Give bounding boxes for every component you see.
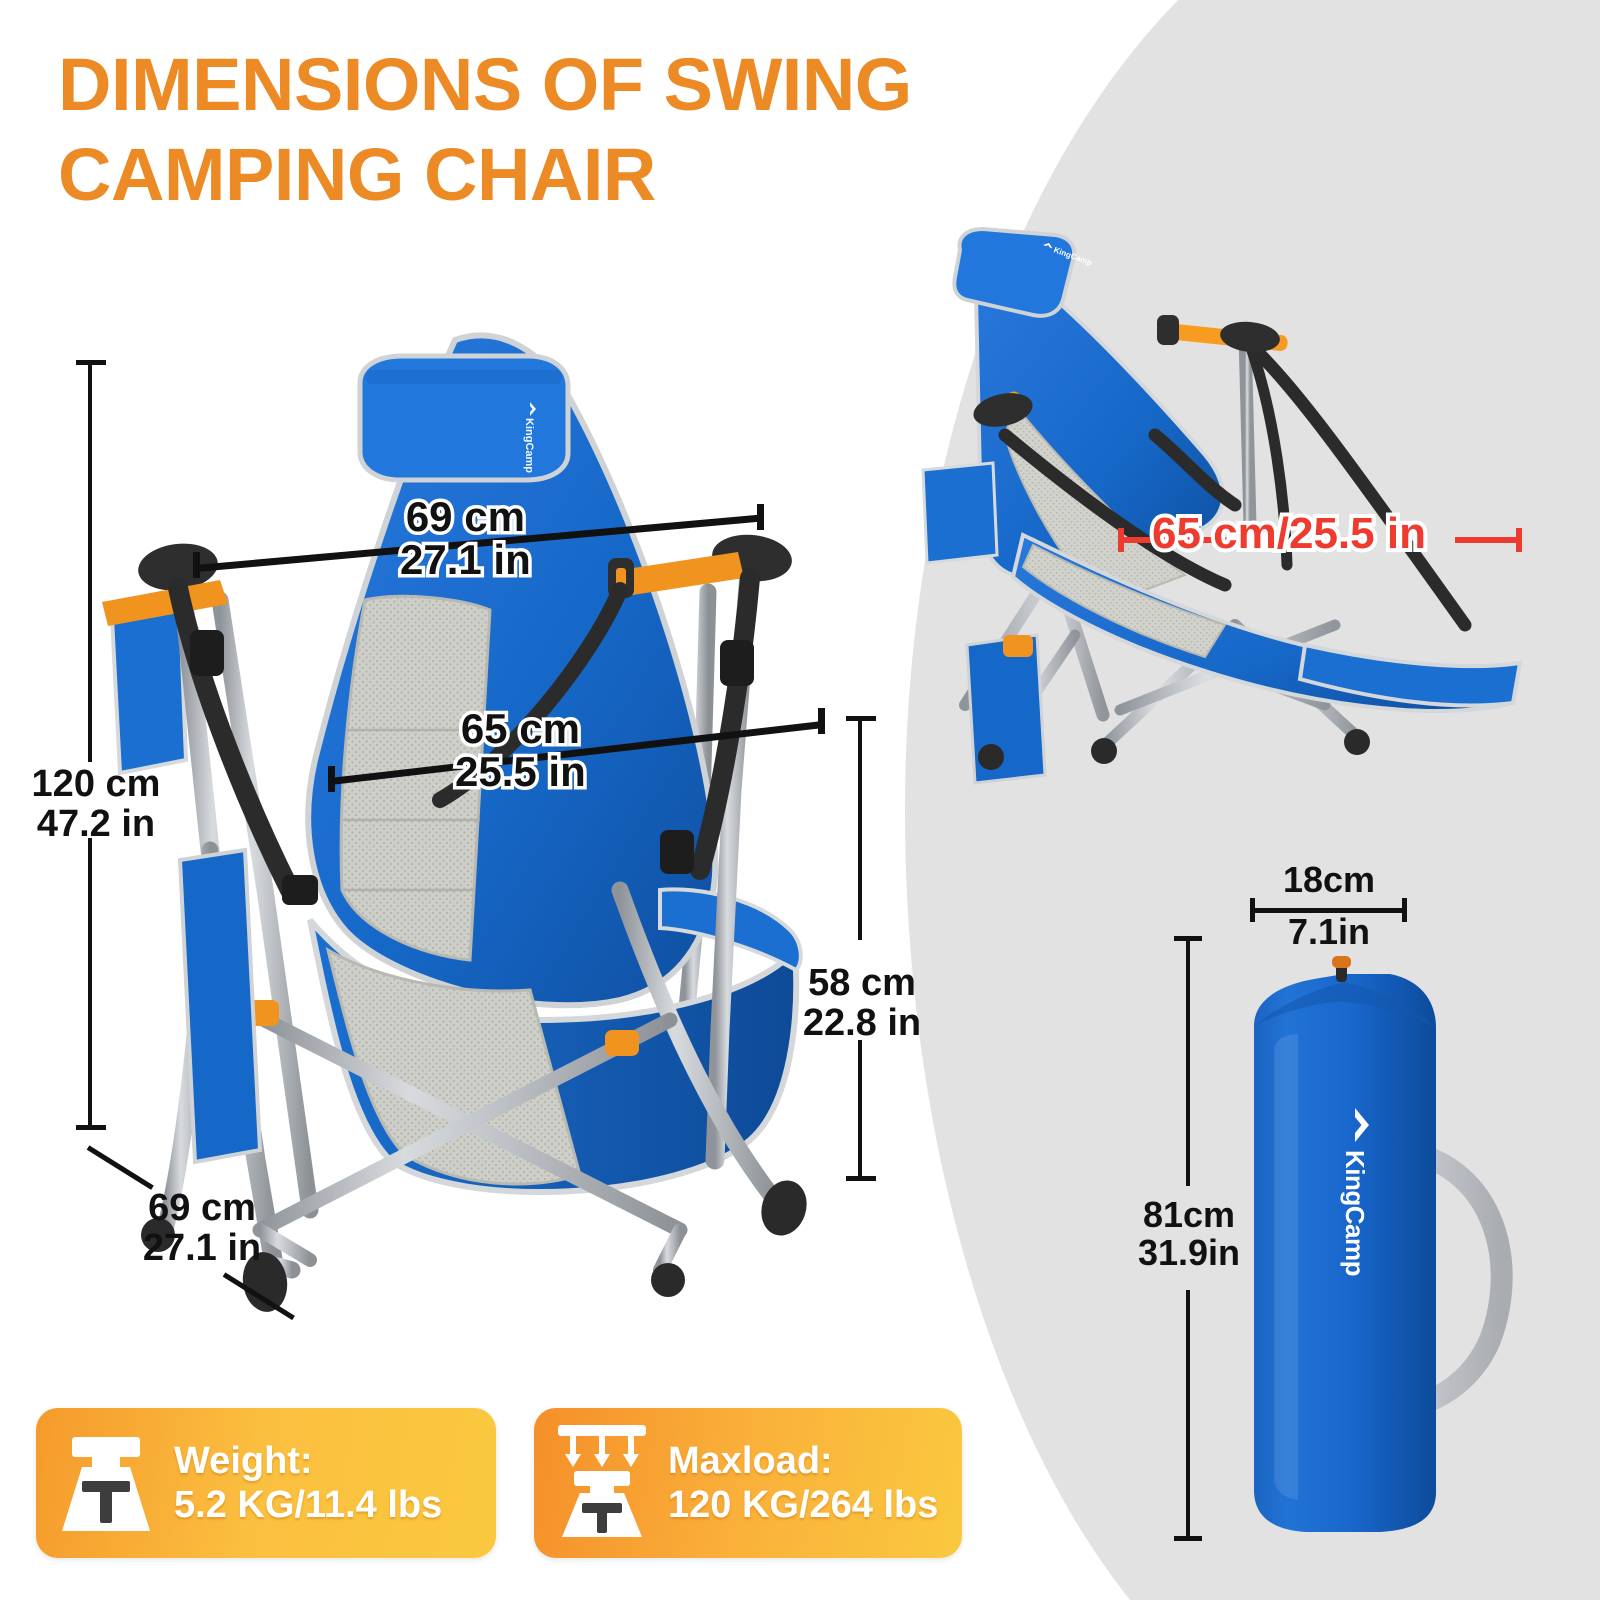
weight-scale-icon [54,1425,158,1542]
bag-height-label: 81cm 31.9in [1116,1196,1262,1272]
reclined-width-cap-right [1516,528,1522,552]
weight-badge-value: 5.2 KG/11.4 lbs [174,1484,442,1526]
seat-width-label: 65 cm 25.5 in [455,708,586,794]
reclined-side-pocket [923,463,997,563]
maxload-badge-text: Maxload: 120 KG/264 lbs [668,1439,938,1527]
infographic-page: DIMENSIONS OF SWING CAMPING CHAIR [0,0,1600,1600]
reclined-chair-illustration: KingCamp [905,205,1545,785]
side-pocket-left [112,606,186,773]
total-height-label: 120 cm 47.2 in [26,764,166,845]
weight-badge[interactable]: Weight: 5.2 KG/11.4 lbs [36,1408,496,1558]
seat-width-cap-right [818,708,825,734]
total-height-line [88,362,92,762]
bag-highlight [1274,1034,1298,1500]
page-title-line2: CAMPING CHAIR [58,130,938,220]
total-height-line-lower [88,838,92,1128]
maxload-badge-label: Maxload: [668,1440,833,1482]
weight-badge-text: Weight: 5.2 KG/11.4 lbs [174,1439,442,1527]
seat-height-label: 58 cm 22.8 in [792,963,932,1044]
maxload-badge[interactable]: Maxload: 120 KG/264 lbs [534,1408,962,1558]
svg-text:KingCamp: KingCamp [523,418,535,473]
backrest-width-label: 69 cm 27.1 in [400,496,531,582]
headrest-top-strip [366,370,562,384]
page-title-line1: DIMENSIONS OF SWING [58,43,912,126]
main-chair-illustration: KingCamp [60,330,900,1330]
cup-holder-pocket [180,850,260,1162]
bag-width-label-in: 7.1in [1248,913,1410,951]
bag-height-line-lower [1186,1290,1190,1540]
seat-height-line [858,718,862,940]
backrest-width-cap-right [757,504,764,530]
maxload-badge-value: 120 KG/264 lbs [668,1484,938,1526]
carry-bag-illustration: KingCamp [1240,930,1560,1550]
bag-height-cap-bottom [1174,1536,1202,1541]
backrest-width-cap-left [193,552,200,578]
bag-height-cap-top [1174,936,1202,941]
reclined-width-label: 65 cm/25.5 in [1152,512,1426,557]
seat-width-cap-left [328,766,335,792]
seat-height-line-lower [858,1040,862,1180]
seat-height-cap-top [846,716,876,721]
bag-width-label-cm: 18cm [1248,861,1410,899]
weight-badge-label: Weight: [174,1440,313,1482]
reclined-width-line-right [1455,537,1520,543]
total-height-cap-top [76,360,106,365]
reclined-width-cap-left [1118,528,1124,552]
page-title: DIMENSIONS OF SWING CAMPING CHAIR [58,40,938,221]
reclined-headrest [954,229,1074,316]
base-depth-label: 69 cm 27.1 in [112,1188,292,1269]
maxload-press-icon [552,1421,652,1546]
svg-text:KingCamp: KingCamp [1340,1150,1370,1276]
bag-height-line-upper [1186,938,1190,1186]
total-height-cap-bottom [76,1125,106,1130]
seat-height-cap-bottom [846,1176,876,1181]
